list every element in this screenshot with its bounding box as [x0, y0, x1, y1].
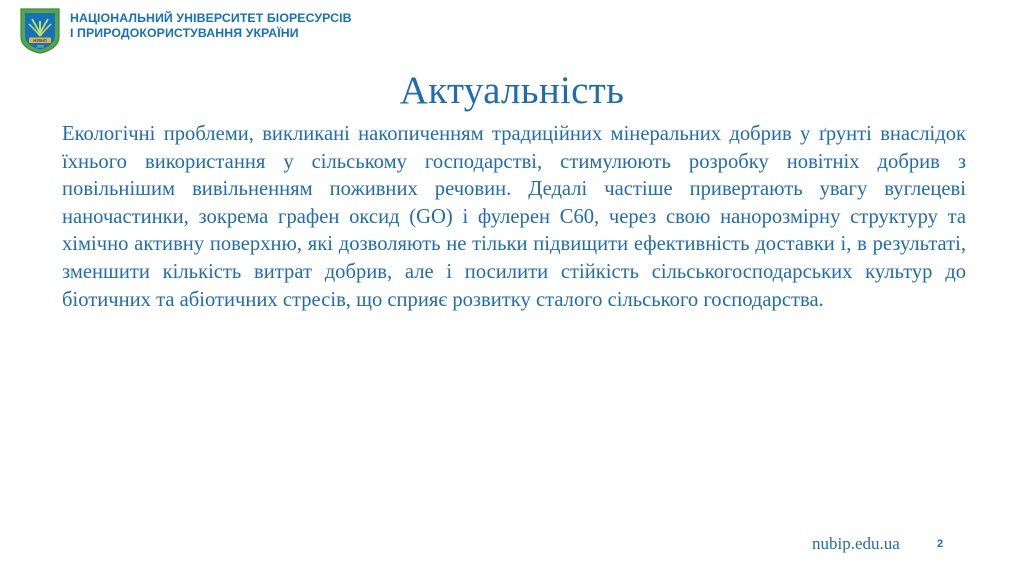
university-name: НАЦІОНАЛЬНИЙ УНІВЕРСИТЕТ БІОРЕСУРСІВ І П…	[70, 11, 370, 40]
svg-text:1898: 1898	[36, 45, 43, 49]
slide-header: НУБіП 1898 НАЦІОНАЛЬНИЙ УНІВЕРСИТЕТ БІОР…	[0, 0, 1024, 60]
process-diagram: +	[0, 336, 1024, 536]
university-name-line1: НАЦІОНАЛЬНИЙ УНІВЕРСИТЕТ БІОРЕСУРСІВ	[70, 11, 352, 25]
footer-page-number: 2	[937, 538, 943, 550]
footer-website-url[interactable]: nubip.edu.ua	[812, 534, 900, 554]
nubip-shield-logo: НУБіП 1898	[19, 7, 61, 55]
slide-body-text: Екологічні проблеми, викликані накопичен…	[62, 121, 966, 314]
university-name-line2: І ПРИРОДОКОРИСТУВАННЯ УКРАЇНИ	[70, 26, 370, 41]
slide-title: Актуальність	[0, 68, 1024, 113]
svg-text:НУБіП: НУБіП	[33, 38, 46, 43]
slide-root: НУБіП 1898 НАЦІОНАЛЬНИЙ УНІВЕРСИТЕТ БІОР…	[0, 0, 1024, 574]
